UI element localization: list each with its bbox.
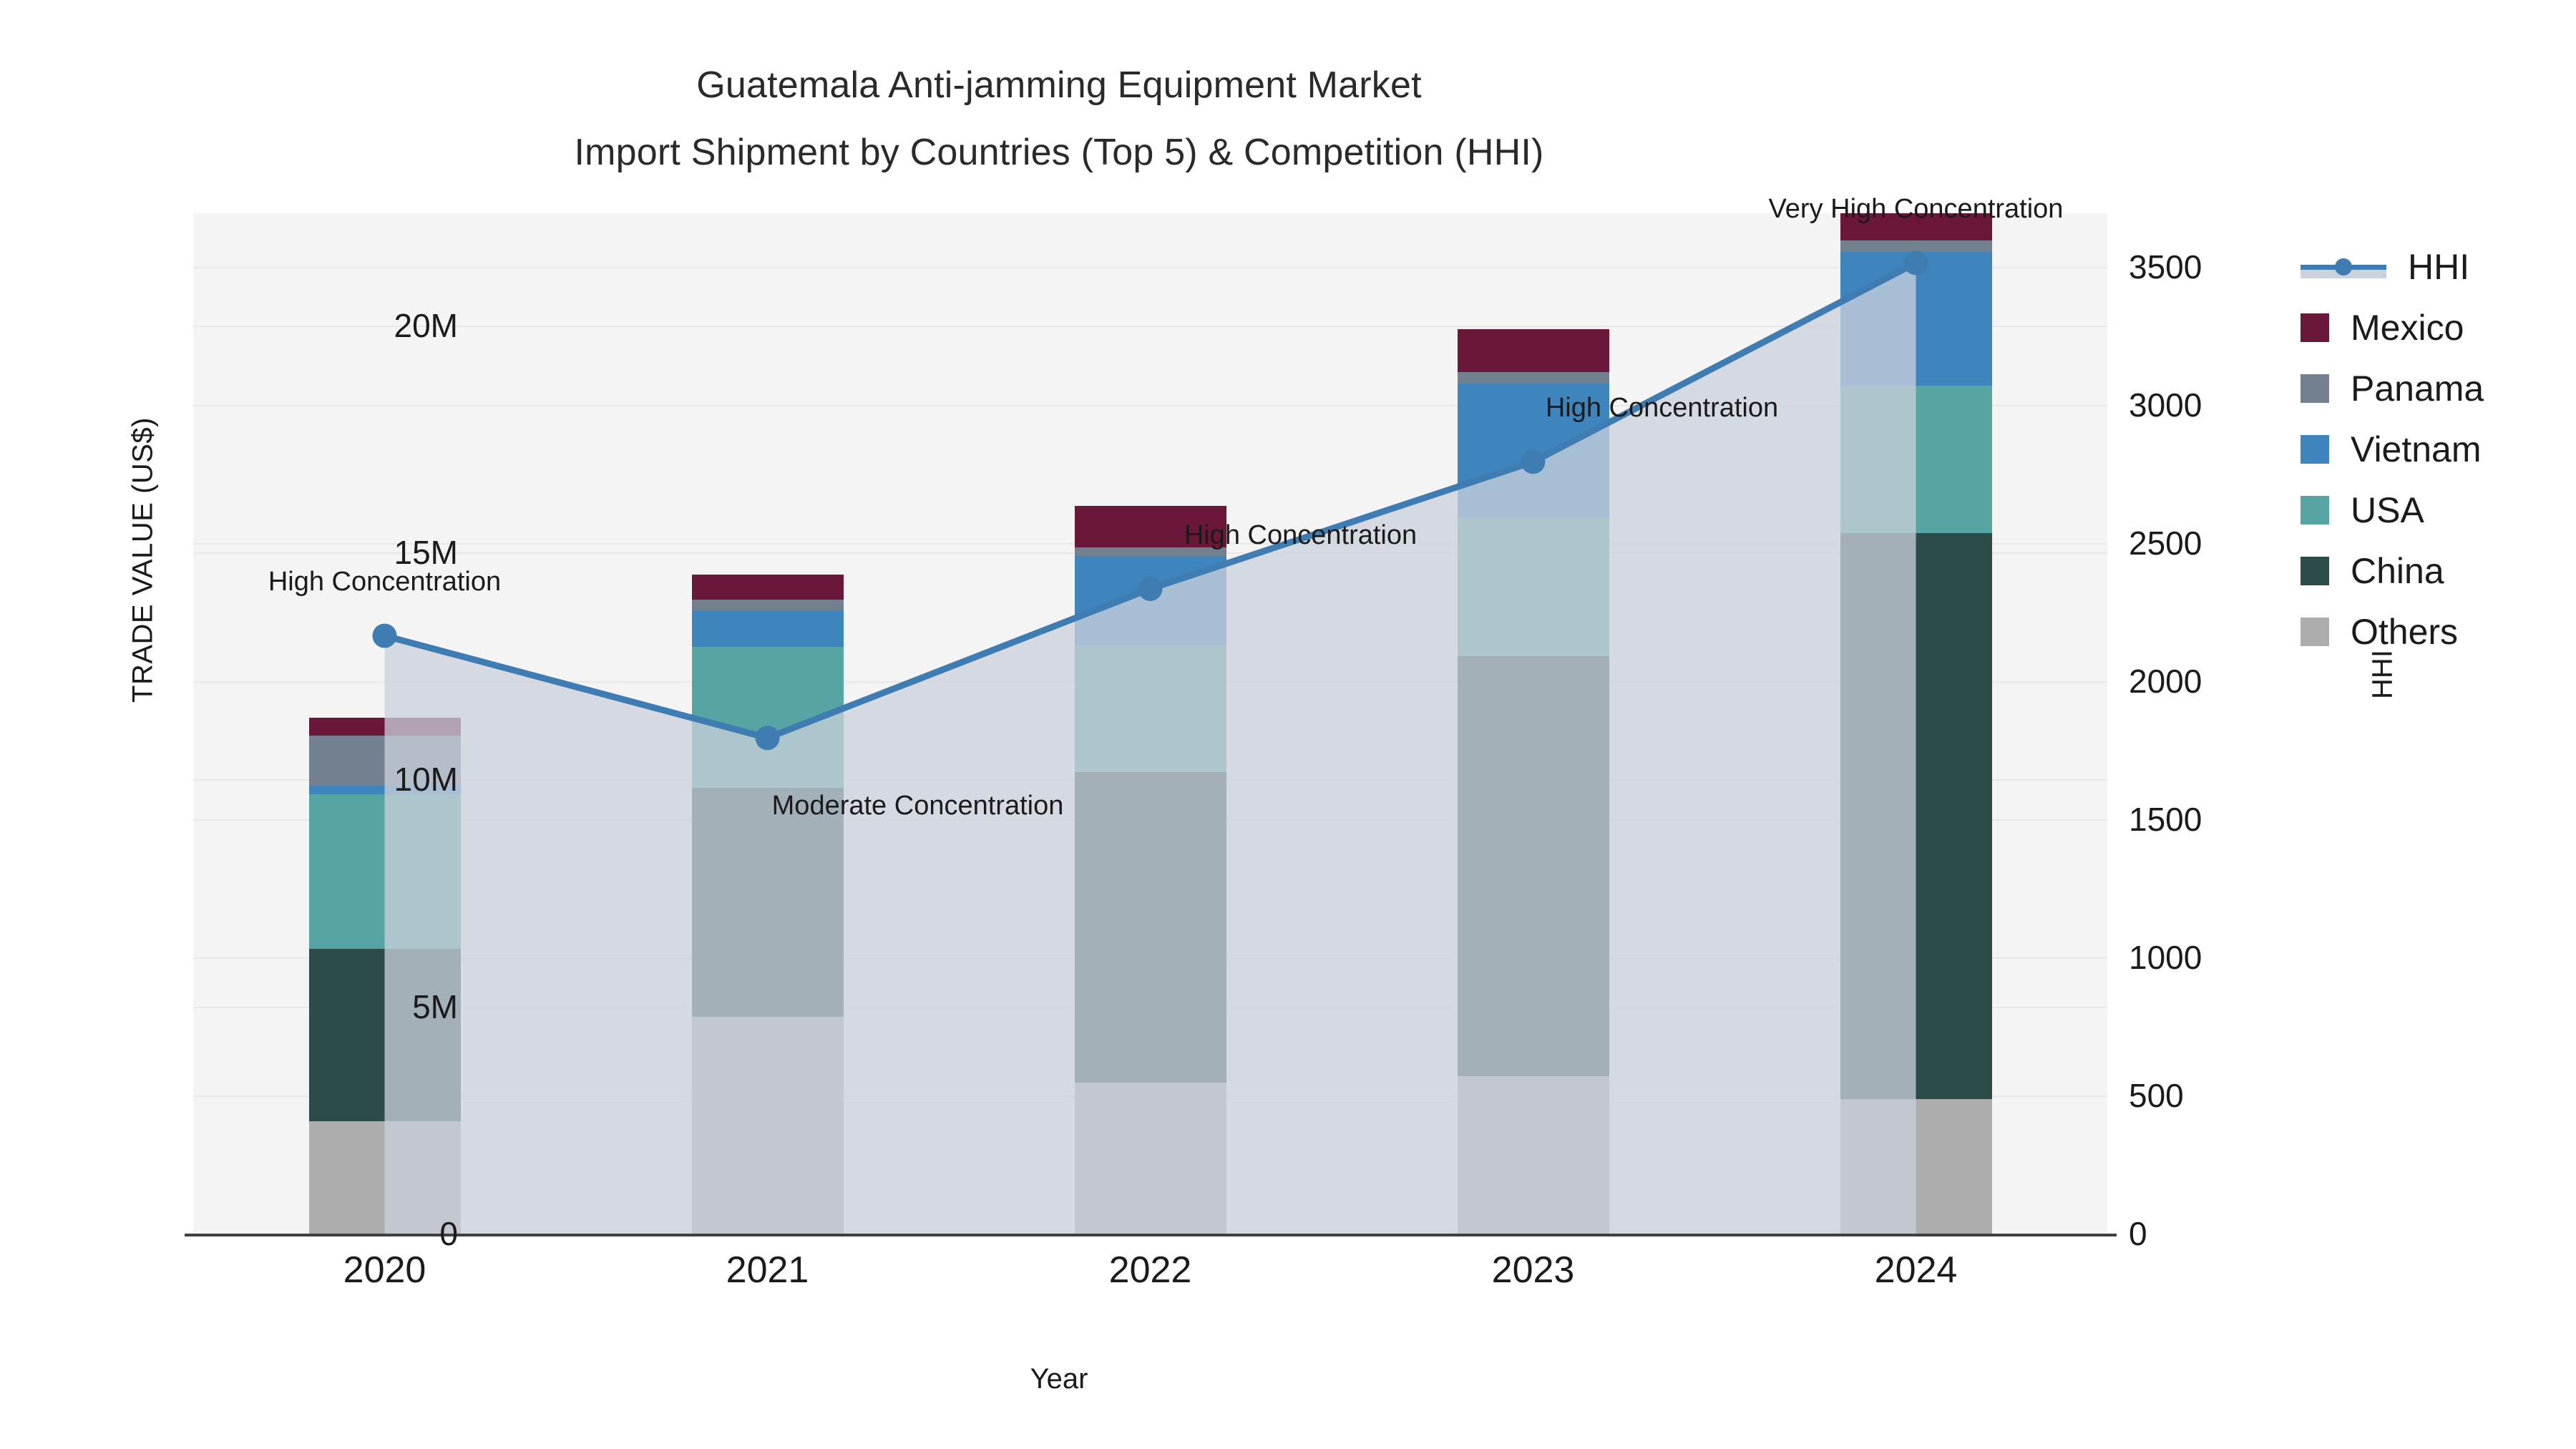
legend-item-usa[interactable]: USA [2301,479,2484,540]
x-axis-label: Year [0,1363,2118,1395]
y-tick-right-0: 0 [2129,1214,2147,1253]
x-tick-2024: 2024 [1875,1249,1958,1292]
chart-root: Guatemala Anti-jamming Equipment Market … [0,0,2576,1449]
y-tick-right-7: 3500 [2129,248,2202,286]
y-tick-left-4: 20M [394,306,458,345]
plot-area [193,213,2107,1235]
x-tick-2021: 2021 [726,1249,809,1292]
chart-title-line-2: Import Shipment by Countries (Top 5) & C… [0,119,2118,186]
legend-label-usa: USA [2351,489,2424,531]
legend-item-mexico[interactable]: Mexico [2301,297,2484,358]
annotation-2023: High Concentration [1546,393,1778,424]
y-tick-left-1: 5M [412,987,458,1026]
annotation-2020: High Concentration [268,567,501,597]
y-tick-right-2: 1000 [2129,938,2202,977]
y-tick-left-0: 0 [439,1214,458,1253]
legend-swatch-others [2301,618,2329,646]
legend-label-others: Others [2351,611,2458,653]
y-tick-left-3: 15M [394,533,458,572]
hhi-point-2020[interactable] [373,623,397,648]
chart-title: Guatemala Anti-jamming Equipment Market … [0,52,2118,186]
y-tick-right-1: 500 [2129,1076,2184,1115]
legend-line-icon [2301,253,2386,281]
x-tick-2022: 2022 [1109,1249,1192,1292]
y-tick-right-3: 1500 [2129,800,2202,839]
legend-item-panama[interactable]: Panama [2301,358,2484,419]
y-tick-left-2: 10M [394,760,458,799]
x-tick-2020: 2020 [343,1249,426,1292]
legend-item-hhi[interactable]: HHI [2301,236,2484,297]
legend-swatch-usa [2301,496,2329,525]
legend-label-vietnam: Vietnam [2351,429,2482,470]
annotation-2022: High Concentration [1184,520,1417,551]
y-tick-right-5: 2500 [2129,524,2202,562]
hhi-line-series [193,213,2107,1235]
chart-title-line-1: Guatemala Anti-jamming Equipment Market [0,52,2118,119]
hhi-point-2023[interactable] [1521,449,1546,474]
legend-item-china[interactable]: China [2301,540,2484,601]
legend-label-panama: Panama [2351,368,2484,409]
y-axis-left-label: TRADE VALUE (US$) [127,410,160,711]
legend-label-hhi: HHI [2408,246,2469,288]
legend: HHIMexicoPanamaVietnamUSAChinaOthers [2301,236,2484,662]
legend-item-others[interactable]: Others [2301,601,2484,662]
legend-swatch-panama [2301,374,2329,403]
x-tick-2023: 2023 [1492,1249,1575,1292]
y-tick-right-4: 2000 [2129,662,2202,701]
hhi-point-2021[interactable] [756,726,780,750]
legend-label-mexico: Mexico [2351,307,2464,348]
legend-swatch-mexico [2301,313,2329,342]
x-axis-line [185,1234,2117,1236]
hhi-point-2022[interactable] [1138,577,1163,601]
legend-marker-dot [2335,258,2352,275]
legend-swatch-vietnam [2301,435,2329,464]
annotation-2021: Moderate Concentration [772,791,1064,821]
y-tick-right-6: 3000 [2129,386,2202,424]
legend-item-vietnam[interactable]: Vietnam [2301,419,2484,479]
legend-swatch-china [2301,557,2329,585]
legend-label-china: China [2351,550,2444,592]
hhi-point-2024[interactable] [1904,250,1928,275]
annotation-2024: Very High Concentration [1769,194,2064,225]
